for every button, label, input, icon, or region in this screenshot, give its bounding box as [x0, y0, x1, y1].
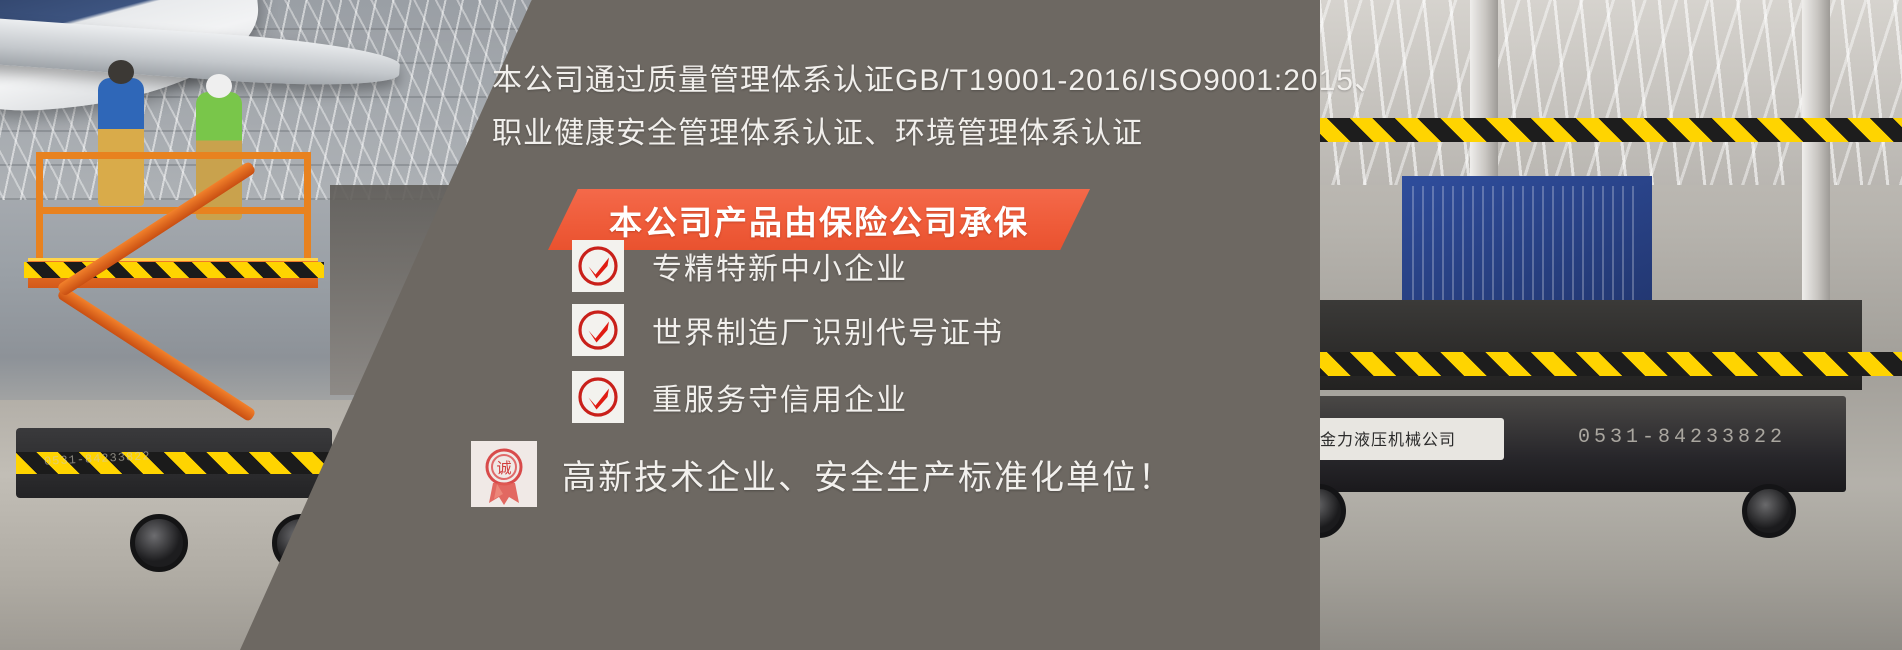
promo-content: 本公司通过质量管理体系认证GB/T19001-2016/ISO9001:2015… — [0, 0, 1902, 650]
footer-highlight-label: 高新技术企业、安全生产标准化单位！ — [562, 450, 1174, 499]
headline-line-2: 职业健康安全管理体系认证、环境管理体系认证 — [492, 108, 1143, 152]
bullet-label-1: 专精特新中小企业 — [652, 244, 908, 288]
bullet-item-1: 专精特新中小企业 — [572, 240, 908, 292]
check-circle-icon — [572, 240, 624, 292]
award-medal-icon: 诚 — [468, 438, 540, 510]
check-circle-icon — [572, 371, 624, 423]
bullet-label-3: 重服务守信用企业 — [652, 375, 908, 419]
bullet-item-2: 世界制造厂识别代号证书 — [572, 304, 1004, 356]
bullet-item-3: 重服务守信用企业 — [572, 371, 908, 423]
headline-line-1: 本公司通过质量管理体系认证GB/T19001-2016/ISO9001:2015… — [492, 55, 1385, 99]
insurance-banner-text: 本公司产品由保险公司承保 — [609, 196, 1029, 244]
bullet-label-2: 世界制造厂识别代号证书 — [652, 308, 1004, 352]
check-circle-icon — [572, 304, 624, 356]
medal-glyph-text: 诚 — [496, 460, 511, 477]
promo-banner-image: 0531-84233822 济南金力液压机械公司 0531-84233822 本… — [0, 0, 1902, 650]
footer-highlight-row: 诚 高新技术企业、安全生产标准化单位！ — [468, 438, 1174, 510]
